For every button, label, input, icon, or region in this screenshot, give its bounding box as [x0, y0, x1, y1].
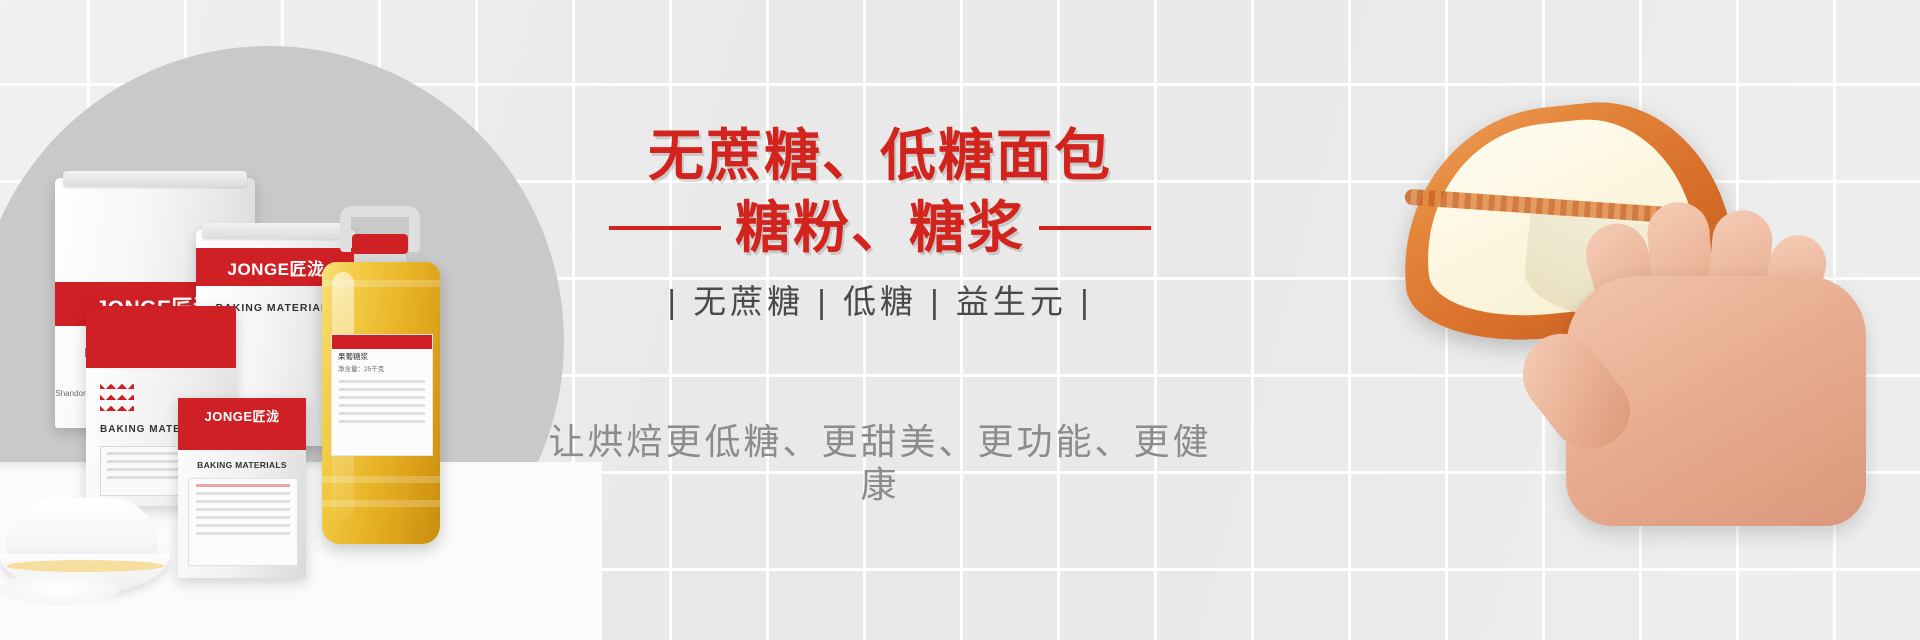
jug-label-title: 果葡糖浆 — [332, 349, 432, 362]
spilled-sugar — [0, 572, 120, 606]
sachet-info-panel — [188, 478, 298, 566]
checker-pattern-icon — [100, 378, 134, 412]
copy-block: 无蔗糖、低糖面包 糖粉、糖浆 | 无蔗糖 | 低糖 | 益生元 | 让烘焙更低糖… — [560, 0, 1200, 640]
product-oil-jug: 果葡糖浆 净含量：25千克 — [318, 206, 444, 544]
headline-line-1: 无蔗糖、低糖面包 — [560, 128, 1200, 184]
sachet-brand-label: JONGE匠泷 — [178, 406, 306, 425]
bag-top-fold — [63, 171, 247, 187]
jug-body: 果葡糖浆 净含量：25千克 — [322, 262, 440, 544]
rule-left — [609, 226, 721, 230]
jug-label: 果葡糖浆 净含量：25千克 — [331, 334, 433, 456]
headline-line-2-row: 糖粉、糖浆 — [560, 200, 1200, 256]
subtitle-features: | 无蔗糖 | 低糖 | 益生元 | — [560, 282, 1200, 322]
bag-red-cap — [86, 306, 236, 368]
headline-line-2: 糖粉、糖浆 — [735, 200, 1025, 256]
product-sachet: JONGE匠泷 BAKING MATERIALS — [178, 398, 306, 578]
tagline: 让烘焙更低糖、更甜美、更功能、更健康 — [530, 420, 1230, 506]
jug-ridge — [322, 476, 440, 483]
hand-holding-bread — [1520, 180, 1920, 530]
promo-banner: JONGE匠泷 BAKING MATERIALS Shandong Jonge … — [0, 0, 1920, 640]
jug-red-cap — [352, 234, 408, 254]
jug-ridge — [322, 500, 440, 507]
jug-label-net-weight: 净含量：25千克 — [332, 362, 432, 375]
jug-ridge — [322, 280, 440, 287]
rule-right — [1039, 226, 1151, 230]
sachet-subtitle-label: BAKING MATERIALS — [178, 460, 306, 470]
bowl-gold-rim — [6, 560, 164, 572]
jug-label-header — [332, 335, 432, 349]
bread-scene — [1400, 70, 1920, 530]
product-group: JONGE匠泷 BAKING MATERIALS Shandong Jonge … — [0, 120, 600, 540]
